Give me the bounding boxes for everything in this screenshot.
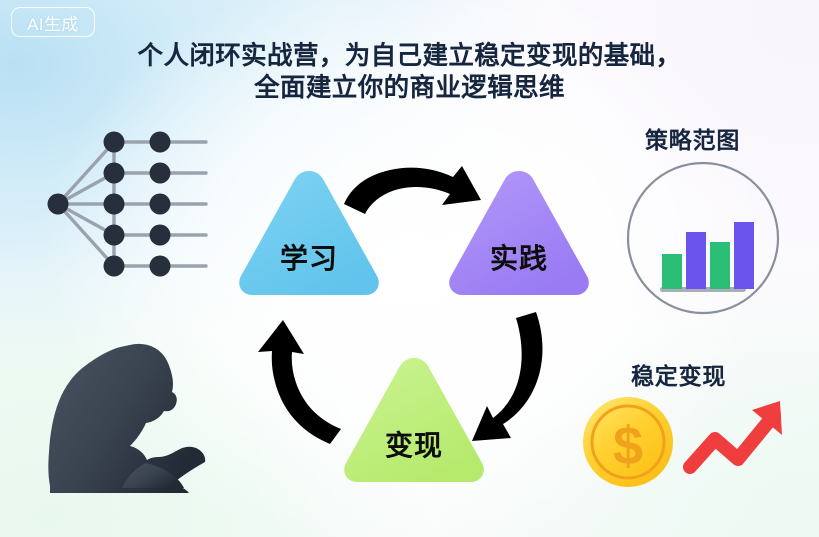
cycle-node-monetize[interactable]: 变现 <box>338 353 490 487</box>
ai-generated-badge: AI生成 <box>11 7 95 37</box>
triangle-shape-monetize <box>338 353 490 487</box>
person-reading-silhouette-icon <box>26 336 231 526</box>
page-title: 个人闭环实战营，为自己建立稳定变现的基础， 全面建立你的商业逻辑思维 <box>0 40 819 104</box>
coin-dollar-symbol: $ <box>613 416 643 476</box>
dollar-coin-icon: $ <box>580 394 676 490</box>
cycle-node-monetize-label: 变现 <box>385 432 443 460</box>
triangle-shape-learn <box>233 166 385 300</box>
page-title-line-2: 全面建立你的商业逻辑思维 <box>0 72 819 104</box>
network-graph-icon <box>34 124 214 284</box>
trending-up-arrow-icon <box>682 391 788 485</box>
triangle-shape-practice <box>443 166 595 300</box>
income-section-label: 稳定变现 <box>631 357 726 391</box>
cycle-node-practice-label: 实践 <box>490 245 548 273</box>
infographic-poster: AI生成 个人闭环实战营，为自己建立稳定变现的基础， 全面建立你的商业逻辑思维 <box>0 0 819 537</box>
chart-bars <box>662 222 754 289</box>
ai-generated-badge-label: AI生成 <box>27 10 79 35</box>
bar-chart-circle-icon <box>624 159 782 317</box>
strategy-section-label: 策略范图 <box>645 121 740 155</box>
cycle-node-learn-label: 学习 <box>280 245 338 273</box>
cycle-node-practice[interactable]: 实践 <box>443 166 595 300</box>
cycle-node-learn[interactable]: 学习 <box>233 166 385 300</box>
page-title-line-1: 个人闭环实战营，为自己建立稳定变现的基础， <box>138 42 682 70</box>
